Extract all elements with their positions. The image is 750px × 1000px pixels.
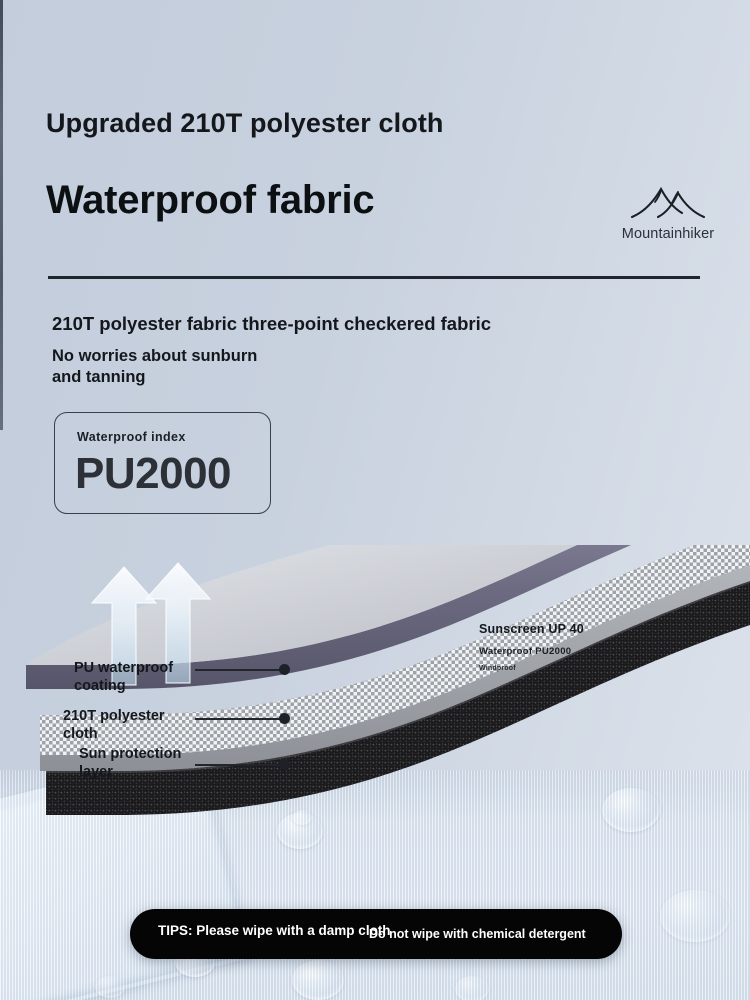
layer-label-pu-waterproof-coating: PU waterproof coating bbox=[74, 659, 173, 695]
waterproof-index-label: Waterproof index bbox=[77, 430, 186, 444]
tips-banner: TIPS: Please wipe with a damp cloth Do n… bbox=[130, 909, 622, 959]
waterproof-index-value: PU2000 bbox=[75, 449, 231, 499]
tips-text-primary: TIPS: Please wipe with a damp cloth bbox=[158, 923, 391, 938]
fabric-cross-section-illustration: PU waterproof coating 210T polyester clo… bbox=[0, 545, 750, 835]
leader-line-sun bbox=[195, 764, 285, 766]
tips-text-secondary: Do not wipe with chemical detergent bbox=[369, 927, 586, 941]
brand-logo: Mountainhiker bbox=[608, 186, 728, 242]
leader-dot-sun bbox=[279, 759, 290, 770]
brand-name: Mountainhiker bbox=[608, 226, 728, 242]
water-droplet bbox=[660, 890, 730, 942]
mountain-peaks-icon bbox=[628, 186, 708, 220]
annotation-sunscreen: Sunscreen UP 40 bbox=[479, 622, 584, 636]
feature-line-2: No worries about sunburn and tanning bbox=[52, 346, 257, 388]
page-subtitle: Upgraded 210T polyester cloth bbox=[46, 108, 444, 139]
section-divider bbox=[48, 276, 700, 279]
left-edge-artifact bbox=[0, 0, 3, 430]
layer-label-sun-protection-layer: Sun protection layer bbox=[79, 745, 181, 781]
leader-dot-pu bbox=[279, 664, 290, 675]
feature-line-1: 210T polyester fabric three-point checke… bbox=[52, 313, 491, 335]
layer-label-polyester-cloth: 210T polyester cloth bbox=[63, 707, 165, 743]
leader-line-pu bbox=[195, 669, 285, 671]
leader-dot-polyester bbox=[279, 713, 290, 724]
water-droplet bbox=[455, 976, 489, 1000]
annotation-waterproof: Waterproof PU2000 bbox=[479, 646, 571, 657]
product-infographic: Upgraded 210T polyester cloth Waterproof… bbox=[0, 0, 750, 1000]
leader-line-polyester bbox=[195, 718, 285, 720]
page-title: Waterproof fabric bbox=[46, 178, 374, 223]
water-droplet bbox=[292, 960, 344, 1000]
waterproof-index-box: Waterproof index PU2000 bbox=[54, 412, 271, 514]
annotation-windproof: Windproof bbox=[479, 665, 516, 672]
water-droplet bbox=[95, 976, 125, 998]
